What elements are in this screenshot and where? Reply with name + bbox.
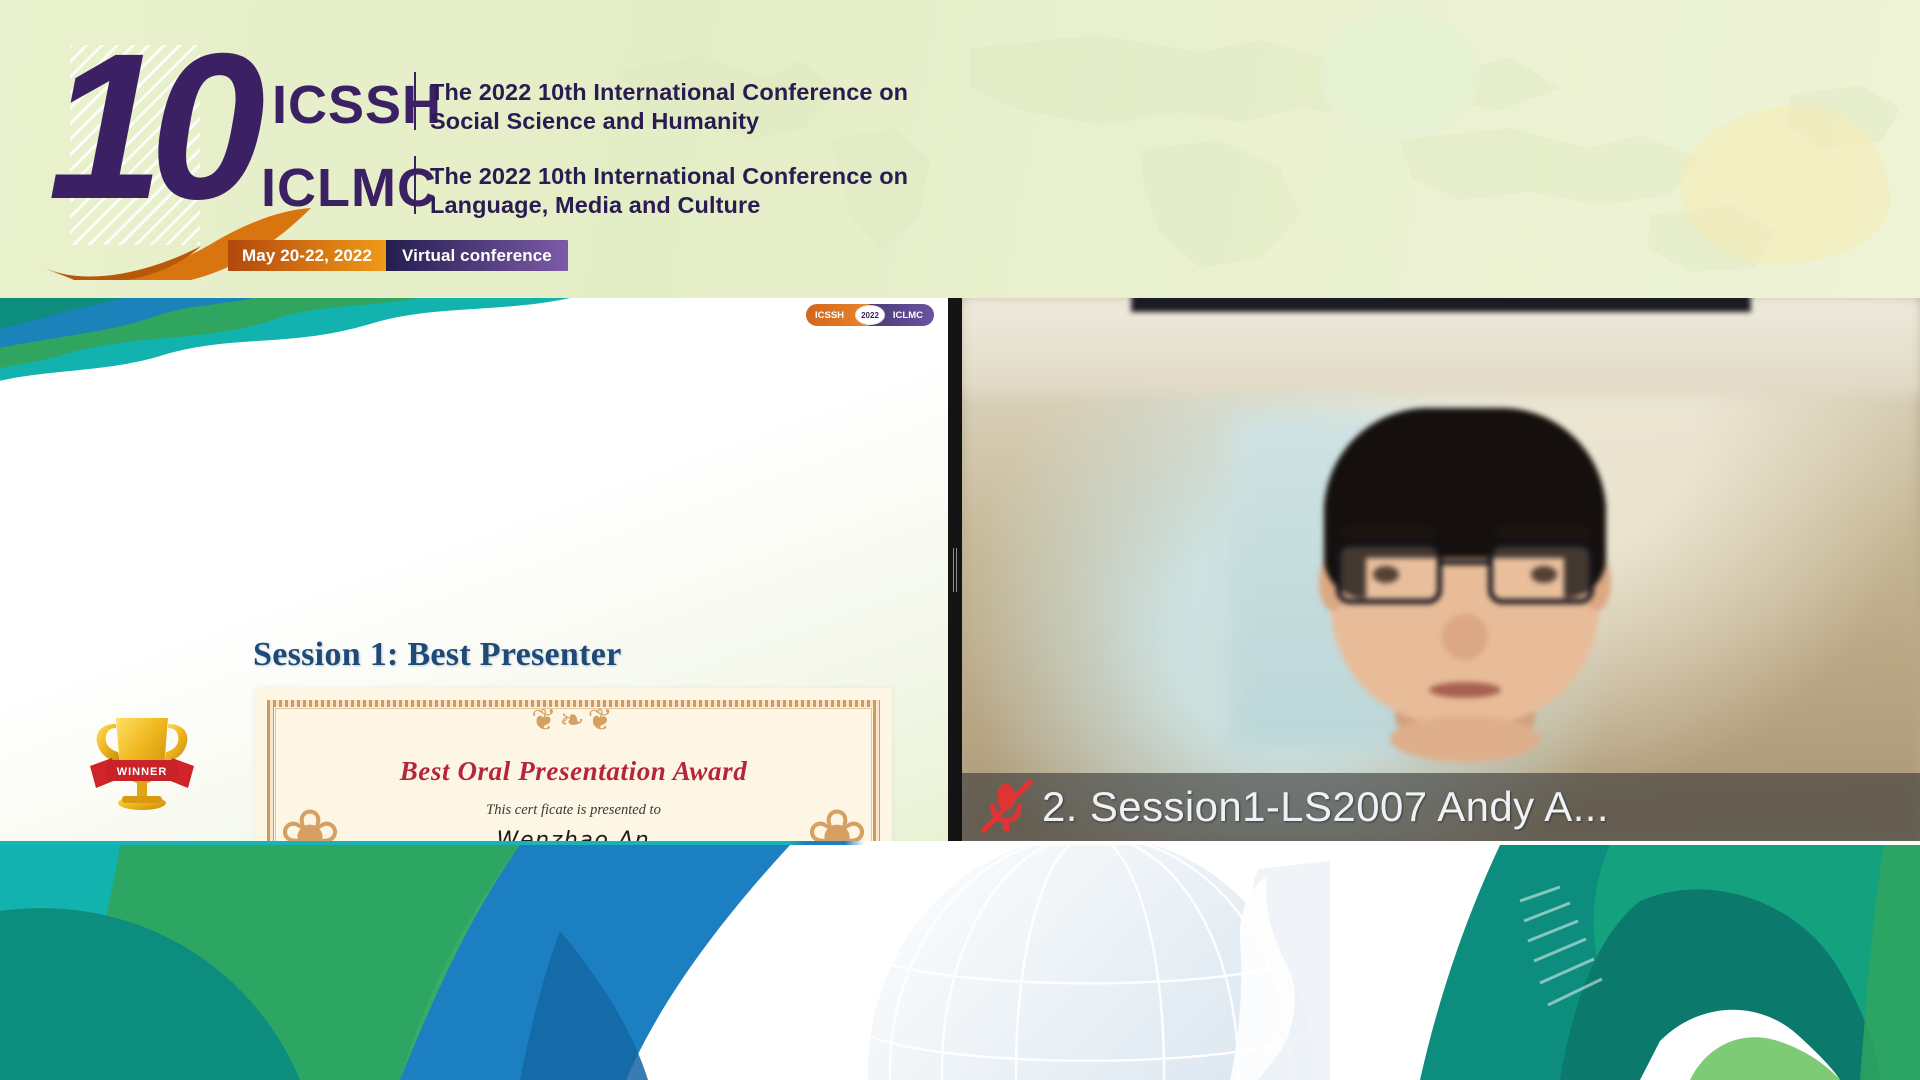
conference-title-icssh-line2: Social Science and Humanity (430, 107, 908, 136)
eyeglass-lens-right (1488, 542, 1594, 604)
footer-top-strip (0, 841, 1920, 845)
conference-title-iclmc-line2: Language, Media and Culture (430, 191, 908, 220)
ornament-top-icon: ❦❧❦ (531, 706, 615, 736)
conference-acronym-iclmc: ICLMC (261, 161, 437, 215)
certificate-recipient-name: Wenzhao An (255, 828, 892, 841)
conference-title-iclmc-line1: The 2022 10th International Conference o… (430, 162, 908, 191)
footer-wave-illustration (0, 841, 1920, 1080)
meeting-content-row: ICSSH ICLMC 2022 Session 1: Best Present… (0, 298, 1920, 841)
participant-name-bar: 2. Session1-LS2007 Andy A... (962, 773, 1920, 841)
slide-decorative-wave (0, 298, 600, 410)
participant-shoulders (1131, 298, 1751, 312)
eyeglass-bridge (1442, 560, 1488, 565)
conference-mode-pill: Virtual conference (386, 240, 568, 271)
slide-title: Session 1: Best Presenter (253, 636, 622, 674)
conference-row-icssh: ICSSH (272, 78, 442, 132)
conference-row-iclmc: ICLMC (261, 161, 437, 215)
conference-title-iclmc: The 2022 10th International Conference o… (430, 162, 908, 220)
trophy-icon: WINNER (82, 710, 202, 815)
certificate: ❦❧❦ ❦❧❦ ❀ ❀ Best Oral Presentation Award… (255, 688, 892, 841)
slide-badge-year: 2022 (855, 305, 885, 325)
screenshot-root: 10 th ICSSH The 2022 10th International … (0, 0, 1920, 1080)
panel-resize-handle[interactable] (948, 298, 962, 841)
participant-eyebrow-left (1339, 526, 1435, 539)
conference-title-icssh: The 2022 10th International Conference o… (430, 78, 908, 136)
slide-conference-badge: ICSSH ICLMC 2022 (806, 304, 934, 326)
participant-chin (1390, 716, 1540, 762)
participant-mouth (1429, 682, 1501, 698)
banner-blob-light (1320, 10, 1480, 140)
conference-banner: 10 th ICSSH The 2022 10th International … (0, 0, 1920, 298)
divider-rule-iclmc (414, 156, 416, 214)
shared-screen-slide[interactable]: ICSSH ICLMC 2022 Session 1: Best Present… (0, 298, 948, 841)
svg-text:WINNER: WINNER (117, 766, 168, 778)
participant-eyebrow-right (1495, 526, 1591, 539)
conference-title-icssh-line1: The 2022 10th International Conference o… (430, 78, 908, 107)
participant-nose (1442, 614, 1488, 660)
conference-acronym-icssh: ICSSH (272, 78, 442, 132)
certificate-award-title: Best Oral Presentation Award (255, 756, 892, 787)
resize-grip-icon (953, 548, 957, 592)
eyeglasses-icon (1336, 542, 1594, 608)
participant-video-tile[interactable]: 2. Session1-LS2007 Andy A... (962, 298, 1920, 841)
footer-decorative-graphic (0, 841, 1920, 1080)
certificate-presented-to: This cert ficate is presented to (255, 802, 892, 819)
conference-date-pill: May 20-22, 2022 (228, 240, 386, 271)
eyeglass-lens-left (1336, 542, 1442, 604)
microphone-muted-icon[interactable] (976, 780, 1042, 834)
anniversary-suffix: th (168, 90, 193, 121)
participant-name-label: 2. Session1-LS2007 Andy A... (1042, 783, 1609, 831)
date-mode-pill: May 20-22, 2022 Virtual conference (228, 240, 568, 271)
video-ceiling (962, 298, 1920, 394)
divider-rule-icssh (414, 72, 416, 130)
